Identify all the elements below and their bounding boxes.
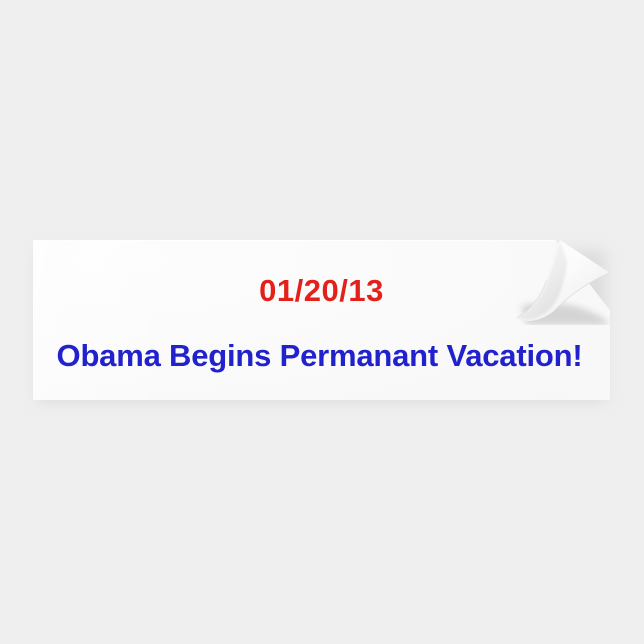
sticker-headline: Obama Begins Permanant Vacation! xyxy=(57,340,583,371)
sticker-date-line: 01/20/13 xyxy=(259,275,384,306)
product-image-canvas: 01/20/13 Obama Begins Permanant Vacation… xyxy=(0,0,644,644)
sticker-text-block: 01/20/13 Obama Begins Permanant Vacation… xyxy=(33,240,610,400)
bumper-sticker: 01/20/13 Obama Begins Permanant Vacation… xyxy=(33,240,610,400)
